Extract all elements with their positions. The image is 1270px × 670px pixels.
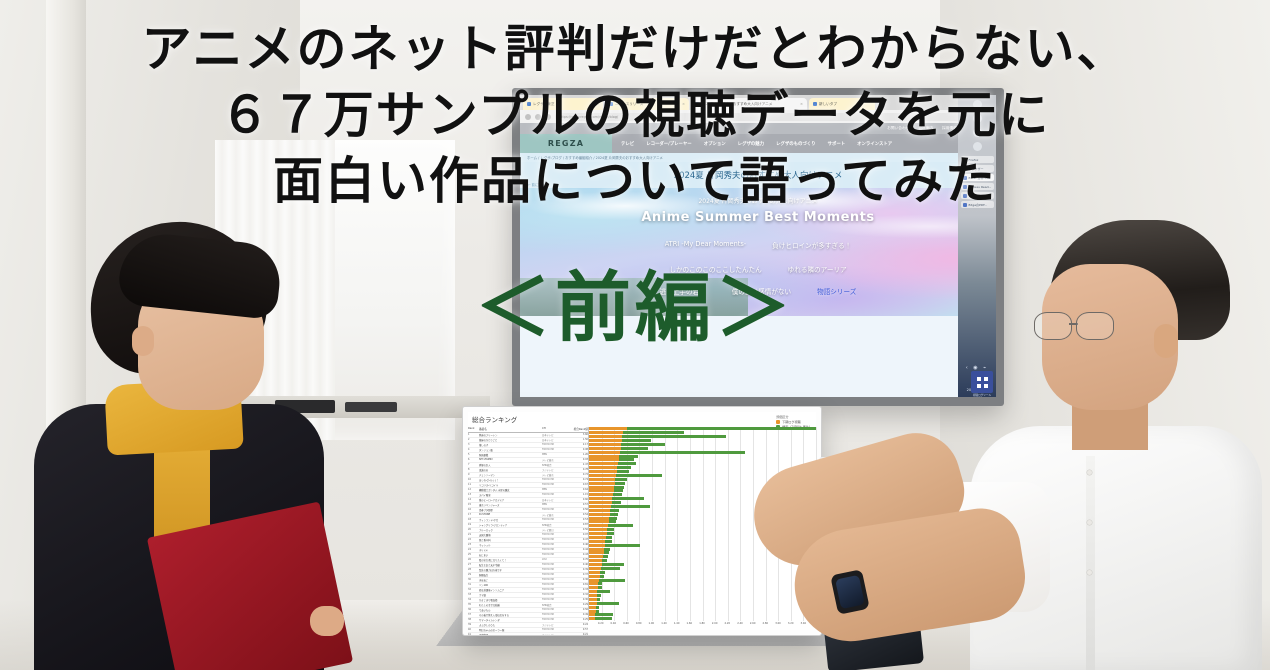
cell-title: その着せ替え人形は恋をする (479, 613, 542, 617)
hero-anime-row: ATRI -My Dear Moments- 負けヒロインが多すぎる！ (520, 240, 996, 250)
cell-ch: テレビ東京 (542, 458, 564, 462)
article-header: 2024年06月17日 2024夏 片岡秀夫のおすすめ大人向けアニメ ← 前に戻… (520, 162, 996, 188)
back-link[interactable]: ← 前に戻る (528, 182, 544, 187)
browser-tab-label: レグザ | 東芝 (533, 102, 554, 107)
cell-value: 0.60 (564, 498, 588, 501)
chart-title: 総合ランキング (468, 412, 816, 427)
cell-rank: 17 (468, 513, 479, 516)
cell-value: 0.74 (564, 478, 588, 481)
cell-rank: 15 (468, 503, 479, 506)
cell-rank: 5 (468, 453, 479, 456)
cell-title: 呪術廻戦 (479, 453, 542, 457)
cell-value: 0.21 (564, 633, 588, 636)
person-left (28, 222, 328, 670)
screenshot-root: レグザ | 東芝 × ニュースリリース × 2024夏 片岡秀夫のおすすめ大人向… (0, 0, 1270, 670)
cell-title: チェンソーマン (479, 473, 542, 477)
site-navigation: REGZA テレビ レコーダー/プレーヤー オプション レグザの魅力 レグザのも… (520, 134, 996, 153)
cell-title: Dr.STONE (479, 513, 542, 516)
cell-ch: TOKYO MX (542, 533, 564, 536)
cell-title: ウマ娘 (479, 593, 542, 597)
cell-title: 推しの子 (479, 443, 542, 447)
taskbar-pin-label: Tableau Read... (969, 194, 992, 198)
cell-ch: TOKYO MX (542, 553, 564, 556)
person-right-ear (1154, 324, 1178, 358)
address-bar[interactable]: https://www.regza.com/regza/blog/ (555, 113, 971, 121)
table-rows: 1葬送のフリーレン日本テレビ3.602薬屋のひとりごと日本テレビ1.503推しの… (468, 433, 588, 637)
nav-item-store[interactable]: オンラインストア (857, 141, 892, 147)
app-icon (963, 194, 967, 198)
cell-rank: 28 (468, 568, 479, 571)
col-value: 総合Rank値 (564, 427, 588, 431)
cell-value: 0.81 (564, 583, 588, 586)
cell-title: 狼と香辛料 (479, 538, 542, 542)
cell-value: 0.36 (564, 578, 588, 581)
cell-ch: MBS (542, 453, 564, 456)
cell-rank: 4 (468, 448, 479, 451)
close-icon[interactable]: × (596, 102, 599, 106)
hero-title: Anime Summer Best Moments (641, 210, 874, 225)
cell-rank: 35 (468, 603, 479, 606)
lens-right (1076, 312, 1114, 340)
cell-title: シャングリラ・フロンティア (479, 523, 542, 527)
cell-title: 青春ブタ野郎 (479, 508, 542, 512)
cell-title: ぼっち・ざ・ろっく！ (479, 478, 542, 482)
cell-value: 2.17 (564, 443, 588, 446)
cell-value: 0.67 (564, 483, 588, 486)
cell-value: 0.30 (564, 598, 588, 601)
cell-rank: 27 (468, 563, 479, 566)
cell-value: 0.50 (564, 528, 588, 531)
app-icon (963, 167, 967, 171)
cell-title: 天国大魔境 (479, 533, 542, 537)
cell-ch: MBS (542, 503, 564, 506)
cell-ch: TOKYO MX (542, 538, 564, 541)
cell-value: 0.54 (564, 513, 588, 516)
cell-ch: TOKYO MX (542, 578, 564, 581)
axis-tick-label: 3.20 (788, 622, 794, 625)
cell-ch: フジテレビ (542, 633, 564, 637)
cell-title: 僕のヒーローアカデミア (479, 498, 542, 502)
cell-title: ゾン100 (479, 583, 542, 587)
taskbar-pin-active[interactable]: Excel 資料.xlsx (961, 174, 994, 181)
favicon-icon (527, 102, 531, 106)
shirt-button (1087, 470, 1092, 475)
cell-value: 0.40 (564, 563, 588, 566)
axis-tick-label: 3.40 (801, 622, 807, 625)
cell-value: 0.32 (564, 593, 588, 596)
cell-title: わたしの幸せな結婚 (479, 603, 542, 607)
cell-title: ダンジョン飯 (479, 448, 542, 452)
cell-rank: 30 (468, 578, 479, 581)
app-icon (963, 203, 967, 207)
ranking-table: Rank 番組名 CH 総合Rank値 1葬送のフリーレン日本テレビ3.602薬… (468, 427, 588, 621)
legend-title: 評価区分 (776, 414, 812, 419)
col-ch: CH (542, 427, 564, 431)
cell-rank: 34 (468, 598, 479, 601)
axis-tick-label: 2.20 (725, 622, 731, 625)
hero-anime-title[interactable]: ATRI -My Dear Moments- (665, 240, 746, 250)
cell-ch: TOKYO MX (542, 443, 564, 446)
site-utility-links: お問い合わせ 会社案内 採用情報 法人のお客様 (520, 123, 996, 134)
shirt-button (1087, 570, 1092, 575)
cell-value: 0.37 (564, 573, 588, 576)
cell-ch: TOKYO MX (542, 493, 564, 496)
cell-title: ブルーロック (479, 528, 542, 532)
cell-rank: 22 (468, 538, 479, 541)
cell-value: 0.44 (564, 548, 588, 551)
axis-tick-label: 1.40 (674, 622, 680, 625)
cell-ch: TOKYO MX (542, 543, 564, 546)
close-icon[interactable]: × (800, 102, 803, 106)
app-icon (963, 158, 967, 162)
cell-value: 2.47 (564, 463, 588, 466)
axis-tick-label: 1.60 (687, 622, 693, 625)
nav-item-tv[interactable]: テレビ (621, 141, 634, 147)
taskbar-pin-label: Tableau Read... (969, 185, 992, 189)
cell-title: 葬送のフリーレン (479, 433, 542, 437)
cell-ch: AT-X (542, 558, 564, 561)
hero-anime-title[interactable]: しかのこのこのここしたんたん (669, 264, 761, 274)
nav-item-support[interactable]: サポート (828, 141, 846, 147)
nav-item-recorder[interactable]: レコーダー/プレーヤー (646, 141, 692, 147)
cell-value: 0.29 (564, 603, 588, 606)
cell-ch: MBS (542, 488, 564, 491)
cell-rank: 37 (468, 613, 479, 616)
cell-rank: 25 (468, 553, 479, 556)
axis-tick-label: 2.40 (737, 622, 743, 625)
cell-ch: 日本テレビ (542, 438, 564, 442)
hero-ground (520, 278, 748, 316)
cell-value: 0.56 (564, 508, 588, 511)
favicon-icon (813, 102, 817, 106)
shirt-placket (1086, 456, 1095, 670)
person-right (984, 220, 1270, 670)
cell-ch: TOKYO MX (542, 548, 564, 551)
col-rank: Rank (468, 427, 479, 431)
cell-value: 0.72 (564, 473, 588, 476)
browser-tab-label: ニュースリリース (615, 102, 643, 107)
cell-rank: 14 (468, 498, 479, 501)
cell-value: 0.98 (564, 448, 588, 451)
cell-ch: TOKYO MX (542, 448, 564, 451)
cell-rank: 24 (468, 548, 479, 551)
cell-title: スパイ教室 (479, 493, 542, 497)
browser-tab[interactable]: レグザ | 東芝 × (523, 98, 603, 110)
taskbar-pin[interactable]: EdgeのPDF... (961, 201, 994, 208)
cell-value: 0.43 (564, 553, 588, 556)
cell-ch: TOKYO MX (542, 608, 564, 611)
cell-ch: TOKYO MX (542, 518, 564, 521)
tv-screen: レグザ | 東芝 × ニュースリリース × 2024夏 片岡秀夫のおすすめ大人向… (520, 95, 996, 397)
axis-tick-label: 1.20 (661, 622, 667, 625)
cell-title: 転生王女と天才令嬢 (479, 563, 542, 567)
browser-tab-label: 新しいタブ (819, 102, 837, 107)
mail-icon[interactable] (973, 142, 982, 151)
cell-value: 0.47 (564, 538, 588, 541)
cell-rank: 10 (468, 478, 479, 481)
hero-anime-title[interactable]: ゆれる隣のアーリア (788, 264, 847, 274)
cell-rank: 21 (468, 533, 479, 536)
cell-value: 0.97 (564, 533, 588, 536)
cell-title: 機動戦士ガンダム 水星の魔女 (479, 488, 542, 492)
nav-item-manufacturing[interactable]: レグザのものづくり (776, 141, 816, 147)
cell-ch: TOKYO MX (542, 563, 564, 566)
cell-ch: TOKYO MX (542, 508, 564, 511)
taskbar-pin[interactable]: Tableau Read... (961, 183, 994, 190)
cell-rank: 13 (468, 493, 479, 496)
cell-ch: 日本テレビ (542, 498, 564, 502)
browser-tab-active[interactable]: 2024夏 片岡秀夫のおすすめ大人向けアニメ × (691, 98, 807, 110)
utility-link-contact[interactable]: お問い合わせ (887, 126, 909, 131)
cell-value: 0.53 (564, 518, 588, 521)
cell-rank: 20 (468, 528, 479, 531)
favicon-icon (609, 102, 613, 106)
cell-ch: TOKYO MX (542, 573, 564, 576)
axis-tick-label: 0.40 (611, 622, 617, 625)
cell-value: 0.33 (564, 588, 588, 591)
cell-title: 聖女の魔力は万能です (479, 568, 542, 572)
table-row[interactable]: 41平家物語フジテレビ0.21 (468, 633, 588, 637)
utility-link-careers[interactable]: 採用情報 (942, 126, 957, 131)
cell-ch: TOKYO MX (542, 478, 564, 481)
remote-control-secondary (345, 402, 397, 412)
hero-anime-title[interactable]: 僕の妻は感情がない (732, 286, 791, 296)
col-title: 番組名 (479, 427, 542, 431)
cell-title: おにまい (479, 553, 542, 557)
cell-value: 0.70 (564, 558, 588, 561)
axis-tick-label: 2.60 (750, 622, 756, 625)
cell-rank: 3 (468, 443, 479, 446)
cell-title: 東京リベンジャーズ (479, 503, 542, 507)
folder-icon[interactable] (973, 128, 982, 137)
cell-value: 0.93 (564, 458, 588, 461)
cell-value: 0.87 (564, 523, 588, 526)
cell-ch: TOKYO MX (542, 588, 564, 591)
cell-ch: テレビ朝日 (542, 528, 564, 532)
cell-title: ヴィンランド・サガ (479, 518, 542, 522)
reload-icon[interactable] (545, 114, 551, 120)
browser-tab[interactable]: 新しいタブ (809, 98, 875, 110)
browser-toolbar: https://www.regza.com/regza/blog/ (520, 110, 996, 123)
axis-tick-label: 2.00 (712, 622, 718, 625)
cell-ch: TOKYO MX (542, 483, 564, 486)
cell-value: 0.46 (564, 543, 588, 546)
cell-rank: 26 (468, 558, 479, 561)
cell-rank: 29 (468, 573, 479, 576)
person-left-ear (132, 326, 154, 356)
breadcrumb: ホーム / レグザ・ブログ / おすすめ番組紹介 / 2024夏 片岡秀夫のおす… (520, 153, 996, 162)
cell-rank: 2 (468, 438, 479, 441)
tv-monitor: レグザ | 東芝 × ニュースリリース × 2024夏 片岡秀夫のおすすめ大人向… (512, 88, 1004, 406)
cell-rank: 16 (468, 508, 479, 511)
taskbar-pin[interactable]: Firefox (961, 156, 994, 163)
cell-rank: 33 (468, 593, 479, 596)
taskbar-pin-label: EdgeのPDF... (969, 203, 988, 207)
cell-title: SPY×FAMILY (479, 458, 542, 461)
cell-title: であいもん (479, 608, 542, 612)
axis-tick-label: 0.60 (623, 622, 629, 625)
favicon-icon (695, 102, 699, 106)
cell-rank: 12 (468, 488, 479, 491)
search-icon[interactable] (973, 100, 982, 109)
cell-ch: TOKYO MX (542, 593, 564, 596)
cell-title: 進撃の巨人 (479, 463, 542, 467)
cell-title: まほあこ (479, 578, 542, 582)
cell-rank: 19 (468, 523, 479, 526)
hero-anime-title[interactable]: 逃げ上手の若君 (660, 286, 706, 296)
hero-banner: 2024夏 片岡秀夫のおすすめ大人向けアニメ Anime Summer Best… (520, 188, 996, 316)
hero-subtitle: 2024夏 片岡秀夫のおすすめ大人向けアニメ (698, 196, 817, 205)
cell-ch: テレビ東京 (542, 513, 564, 517)
cell-value: 0.56 (564, 608, 588, 611)
cell-title: ひきこまり吸血姫 (479, 598, 542, 602)
axis-tick-label: 2.80 (763, 622, 769, 625)
cell-rank: 9 (468, 473, 479, 476)
legend-swatch-orange (776, 420, 780, 424)
forward-icon[interactable] (535, 114, 541, 120)
axis-tick-label: 1.00 (649, 622, 655, 625)
hero-anime-row: 逃げ上手の若君 僕の妻は感情がない 物語シリーズ (520, 286, 996, 296)
cell-value: 1.20 (564, 453, 588, 456)
cell-ch: NHK総合 (542, 523, 564, 527)
cell-rank: 41 (468, 633, 479, 636)
cell-title: 陰の実力者になりたくて！ (479, 558, 542, 562)
cell-title: 平家物語 (479, 633, 542, 637)
cell-value: 3.60 (564, 433, 588, 436)
taskbar-pin-label: ブラウザー (969, 167, 984, 171)
cell-title: ホリミヤ (479, 548, 542, 552)
watch-face (835, 575, 865, 609)
hero-anime-title[interactable]: 負けヒロインが多すぎる！ (772, 240, 851, 250)
back-icon[interactable] (525, 114, 531, 120)
cell-value: 1.15 (564, 493, 588, 496)
cell-rank: 8 (468, 468, 479, 471)
axis-tick-label: 3.00 (775, 622, 781, 625)
app-icon (963, 176, 967, 180)
nav-item-option[interactable]: オプション (704, 141, 726, 147)
cell-ch: フジテレビ (542, 468, 564, 472)
cell-value: 0.64 (564, 488, 588, 491)
cell-ch: NHK総合 (542, 603, 564, 607)
page-title: 2024夏 片岡秀夫のおすすめ大人向けアニメ (674, 169, 843, 181)
eyeglasses-icon (1034, 312, 1126, 342)
cell-rank: 1 (468, 433, 479, 436)
chrome-icon[interactable] (973, 114, 982, 123)
app-icon (963, 185, 967, 189)
cell-rank: 18 (468, 518, 479, 521)
axis-tick-label: 1.80 (699, 622, 705, 625)
cell-value: 0.57 (564, 503, 588, 506)
hero-anime-title-highlight[interactable]: 物語シリーズ (817, 286, 856, 296)
cell-title: 君は放課後インソムニア (479, 588, 542, 592)
regza-site: お問い合わせ 会社案内 採用情報 法人のお客様 REGZA テレビ レコーダー/… (520, 123, 996, 316)
chart-x-axis: 0.200.400.600.801.001.201.401.601.802.00… (468, 621, 816, 630)
person-left-hand (310, 606, 344, 636)
shirt-button (1087, 520, 1092, 525)
browser-tab[interactable]: ニュースリリース × (605, 98, 689, 110)
cell-rank: 23 (468, 543, 479, 546)
axis-tick-label: 0.80 (636, 622, 642, 625)
regza-logo[interactable]: REGZA (520, 134, 612, 153)
hero-anime-row: しかのこのこのここしたんたん ゆれる隣のアーリア (520, 264, 996, 274)
cell-title: マッシュル (479, 543, 542, 547)
cell-rank: 6 (468, 458, 479, 461)
browser-tab-label: 2024夏 片岡秀夫のおすすめ大人向けアニメ (701, 102, 772, 107)
close-icon[interactable]: × (682, 102, 685, 106)
cell-rank: 36 (468, 608, 479, 611)
cell-value: 0.49 (564, 613, 588, 616)
cell-title: リコリス・リコイル (479, 483, 542, 487)
taskbar-pin-label: Firefox (969, 158, 979, 162)
taskbar-pin-label: Excel 資料.xlsx (969, 176, 991, 180)
axis-tick-label: 0.20 (598, 622, 604, 625)
cell-ch: TOKYO MX (542, 568, 564, 571)
browser-tab-strip: レグザ | 東芝 × ニュースリリース × 2024夏 片岡秀夫のおすすめ大人向… (520, 95, 996, 110)
cell-title: 無職転生 (479, 573, 542, 577)
cell-rank: 31 (468, 583, 479, 586)
cell-ch: テレビ東京 (542, 473, 564, 477)
nav-item-appeal[interactable]: レグザの魅力 (738, 141, 764, 147)
cell-ch: TOKYO MX (542, 583, 564, 586)
cell-ch: NHK総合 (542, 463, 564, 467)
cell-value: 0.39 (564, 568, 588, 571)
lens-left (1034, 312, 1072, 340)
cell-ch: TOKYO MX (542, 598, 564, 601)
taskbar-pin[interactable]: ブラウザー (961, 165, 994, 172)
cell-rank: 32 (468, 588, 479, 591)
cell-rank: 7 (468, 463, 479, 466)
cell-rank: 11 (468, 483, 479, 486)
cell-value: 1.50 (564, 438, 588, 441)
cell-ch: 日本テレビ (542, 433, 564, 437)
taskbar-pin[interactable]: Tableau Read... (961, 192, 994, 199)
cell-value: 0.78 (564, 468, 588, 471)
cell-title: 薬屋のひとりごと (479, 438, 542, 442)
cell-title: 鬼滅の刃 (479, 468, 542, 472)
utility-link-company[interactable]: 会社案内 (918, 126, 933, 131)
bar-segment-green (595, 617, 611, 620)
cell-ch: TOKYO MX (542, 613, 564, 616)
